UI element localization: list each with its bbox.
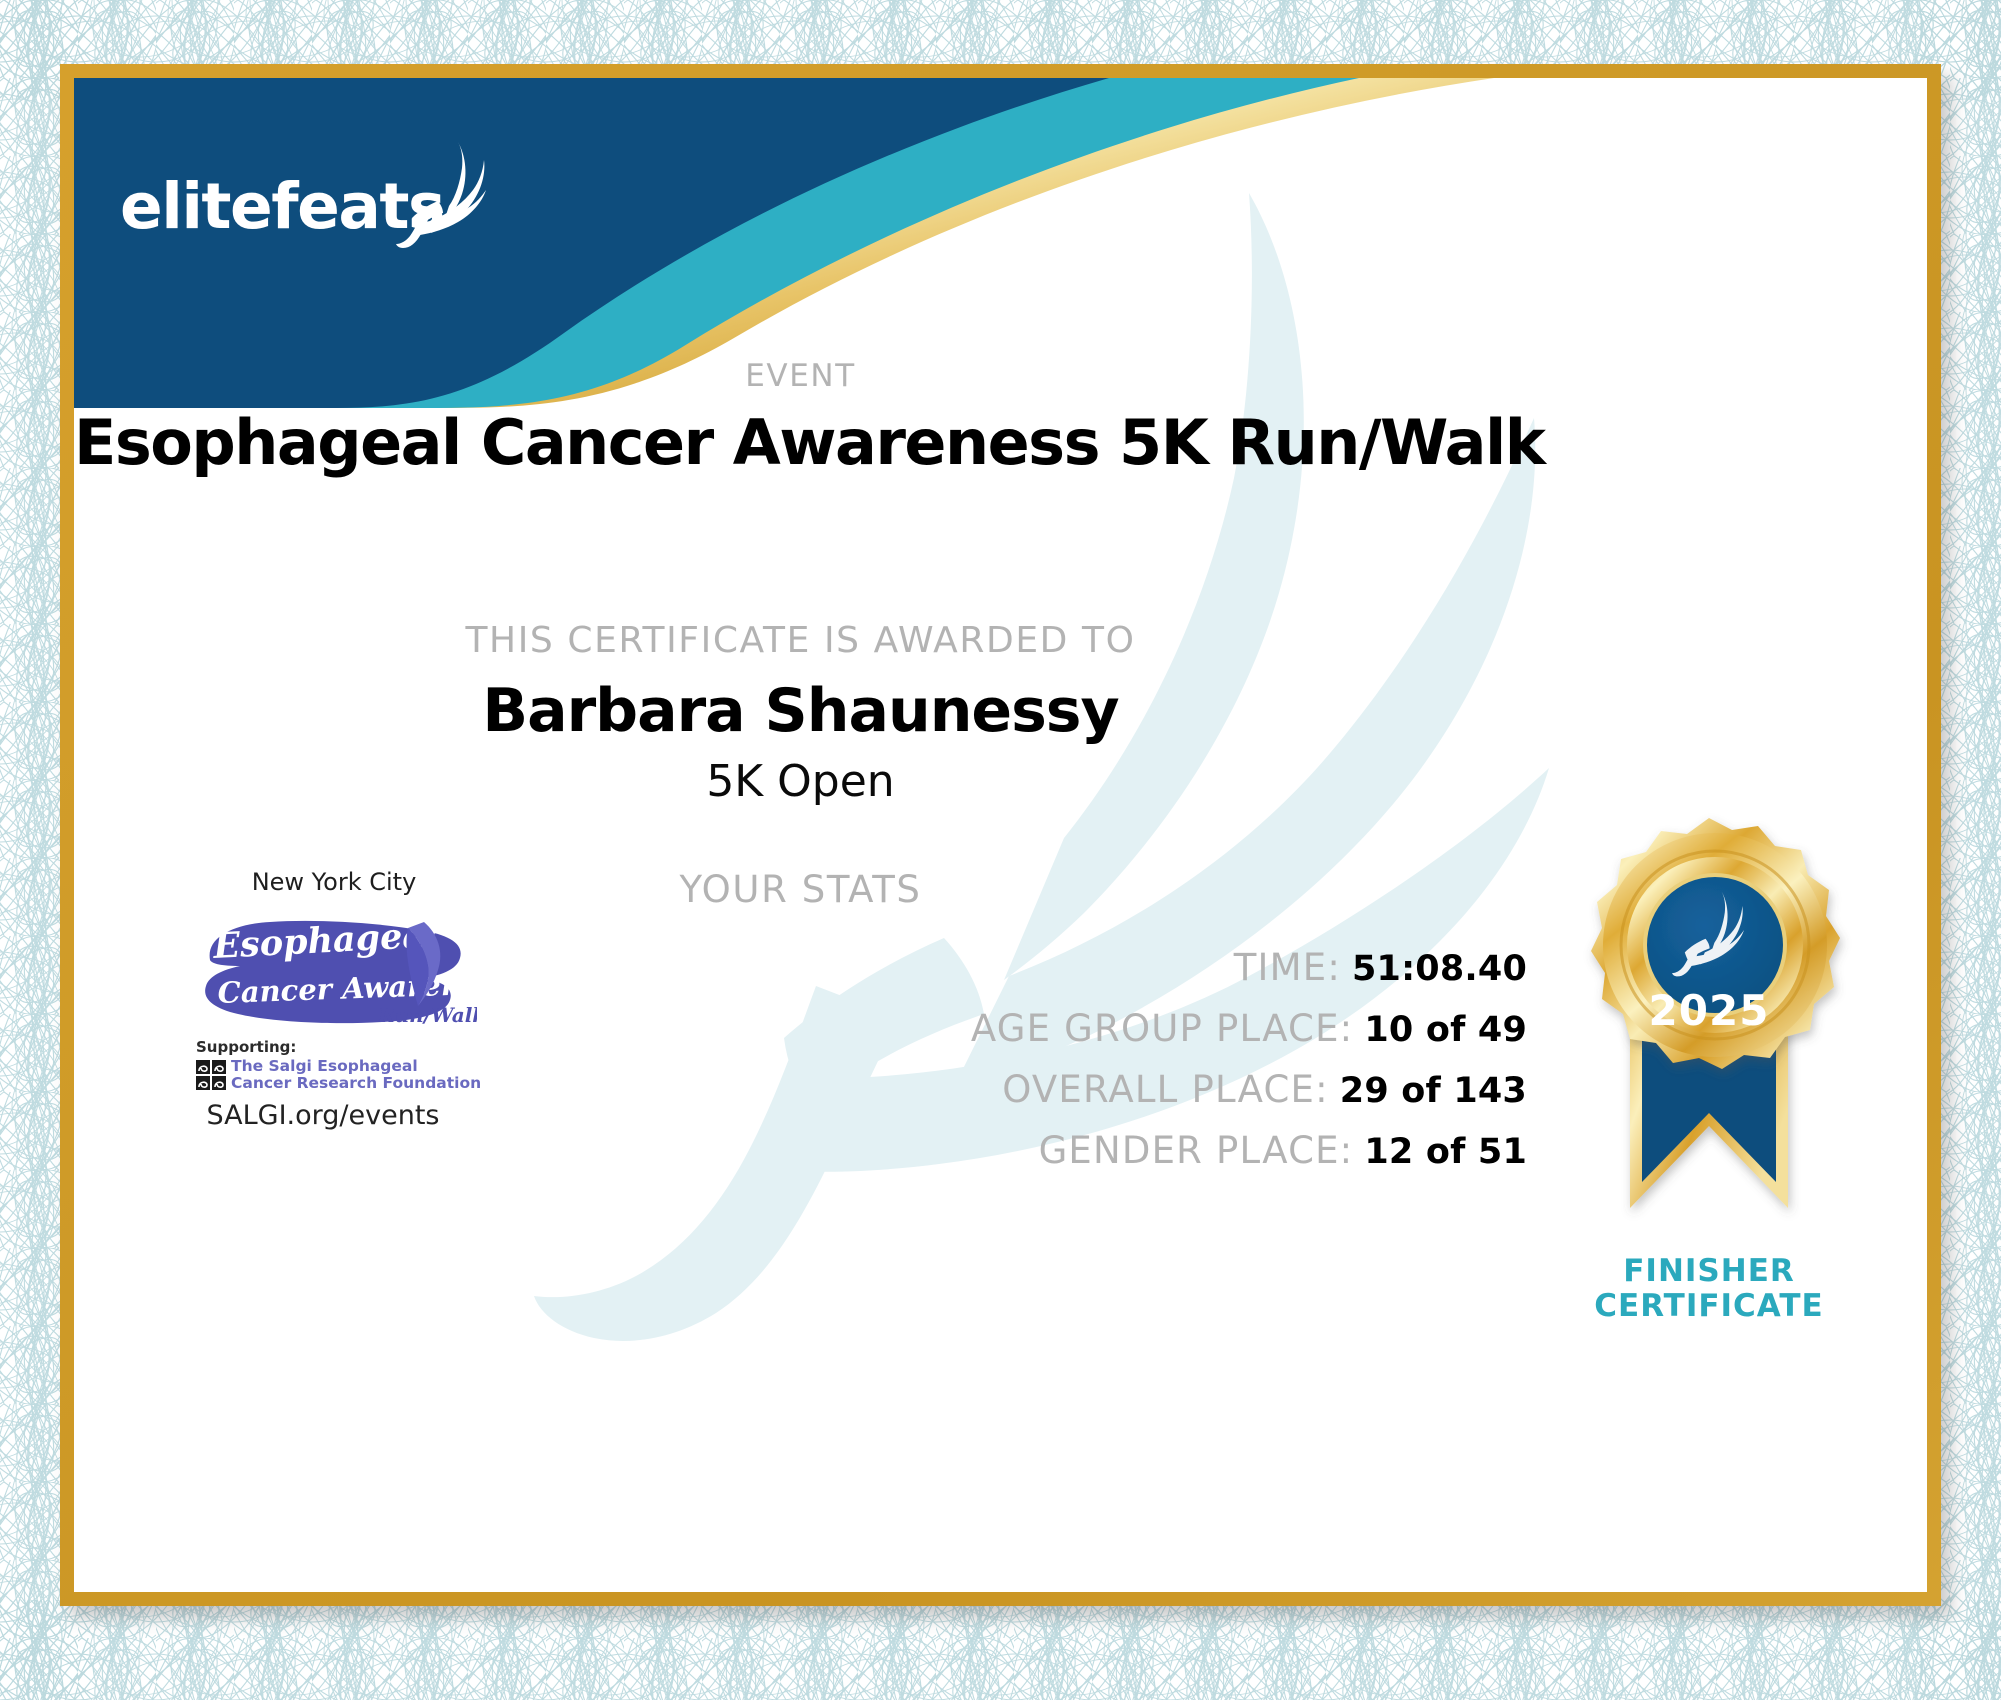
event-label: EVENT — [74, 358, 1527, 394]
winged-foot-icon — [396, 140, 488, 250]
stat-key: OVERALL PLACE: — [1002, 1068, 1329, 1111]
stat-value: 51:08.40 — [1352, 949, 1527, 989]
finisher-caption-line-2: CERTIFICATE — [1529, 1289, 1889, 1324]
salgi-url: SALGI.org/events — [174, 1100, 494, 1131]
salgi-name-line-1: The Salgi Esophageal — [231, 1058, 481, 1075]
stat-row-gender-place: GENDER PLACE: 12 of 51 — [74, 1129, 1527, 1190]
certificate-page: elitefeats EVENT Esophageal Cancer Aware… — [0, 0, 2001, 1700]
stat-key: TIME: — [1234, 946, 1341, 989]
supporting-label: Supporting: — [196, 1038, 494, 1056]
salgi-row: The Salgi Esophageal Cancer Research Fou… — [196, 1058, 494, 1092]
sponsor-city: New York City — [174, 868, 494, 896]
stat-value: 12 of 51 — [1364, 1132, 1527, 1172]
finisher-medal-block: 2025 FINISHER CERTIFICATE — [1529, 810, 1889, 1323]
finisher-caption-line-1: FINISHER — [1529, 1254, 1889, 1289]
race-division: 5K Open — [74, 756, 1527, 807]
awarded-to-label: THIS CERTIFICATE IS AWARDED TO — [74, 620, 1527, 661]
sponsor-block: New York City Esophageal Cancer Awarenes… — [174, 868, 494, 1131]
stat-key: AGE GROUP PLACE: — [971, 1007, 1353, 1050]
supporting-foundation-block: Supporting: The — [174, 1038, 494, 1092]
certificate-body: elitefeats EVENT Esophageal Cancer Aware… — [74, 78, 1927, 1592]
esophageal-cancer-awareness-logo-icon: Esophageal Cancer Awareness Run/Walk — [192, 908, 477, 1028]
salgi-foundation-mark-icon — [196, 1060, 226, 1090]
certificate-frame: elitefeats EVENT Esophageal Cancer Aware… — [60, 64, 1941, 1606]
svg-text:Run/Walk: Run/Walk — [377, 1003, 477, 1027]
winged-foot-medal-icon: 2025 — [1564, 810, 1854, 1250]
salgi-foundation-name: The Salgi Esophageal Cancer Research Fou… — [231, 1058, 481, 1092]
recipient-name: Barbara Shaunessy — [74, 676, 1527, 746]
salgi-name-line-2: Cancer Research Foundation — [231, 1075, 481, 1092]
finisher-certificate-caption: FINISHER CERTIFICATE — [1529, 1254, 1889, 1323]
stat-value: 29 of 143 — [1340, 1071, 1527, 1111]
stat-key: GENDER PLACE: — [1039, 1129, 1354, 1172]
event-title: Esophageal Cancer Awareness 5K Run/Walk — [74, 406, 1527, 479]
stat-value: 10 of 49 — [1364, 1010, 1527, 1050]
medal-year: 2025 — [1649, 986, 1770, 1035]
